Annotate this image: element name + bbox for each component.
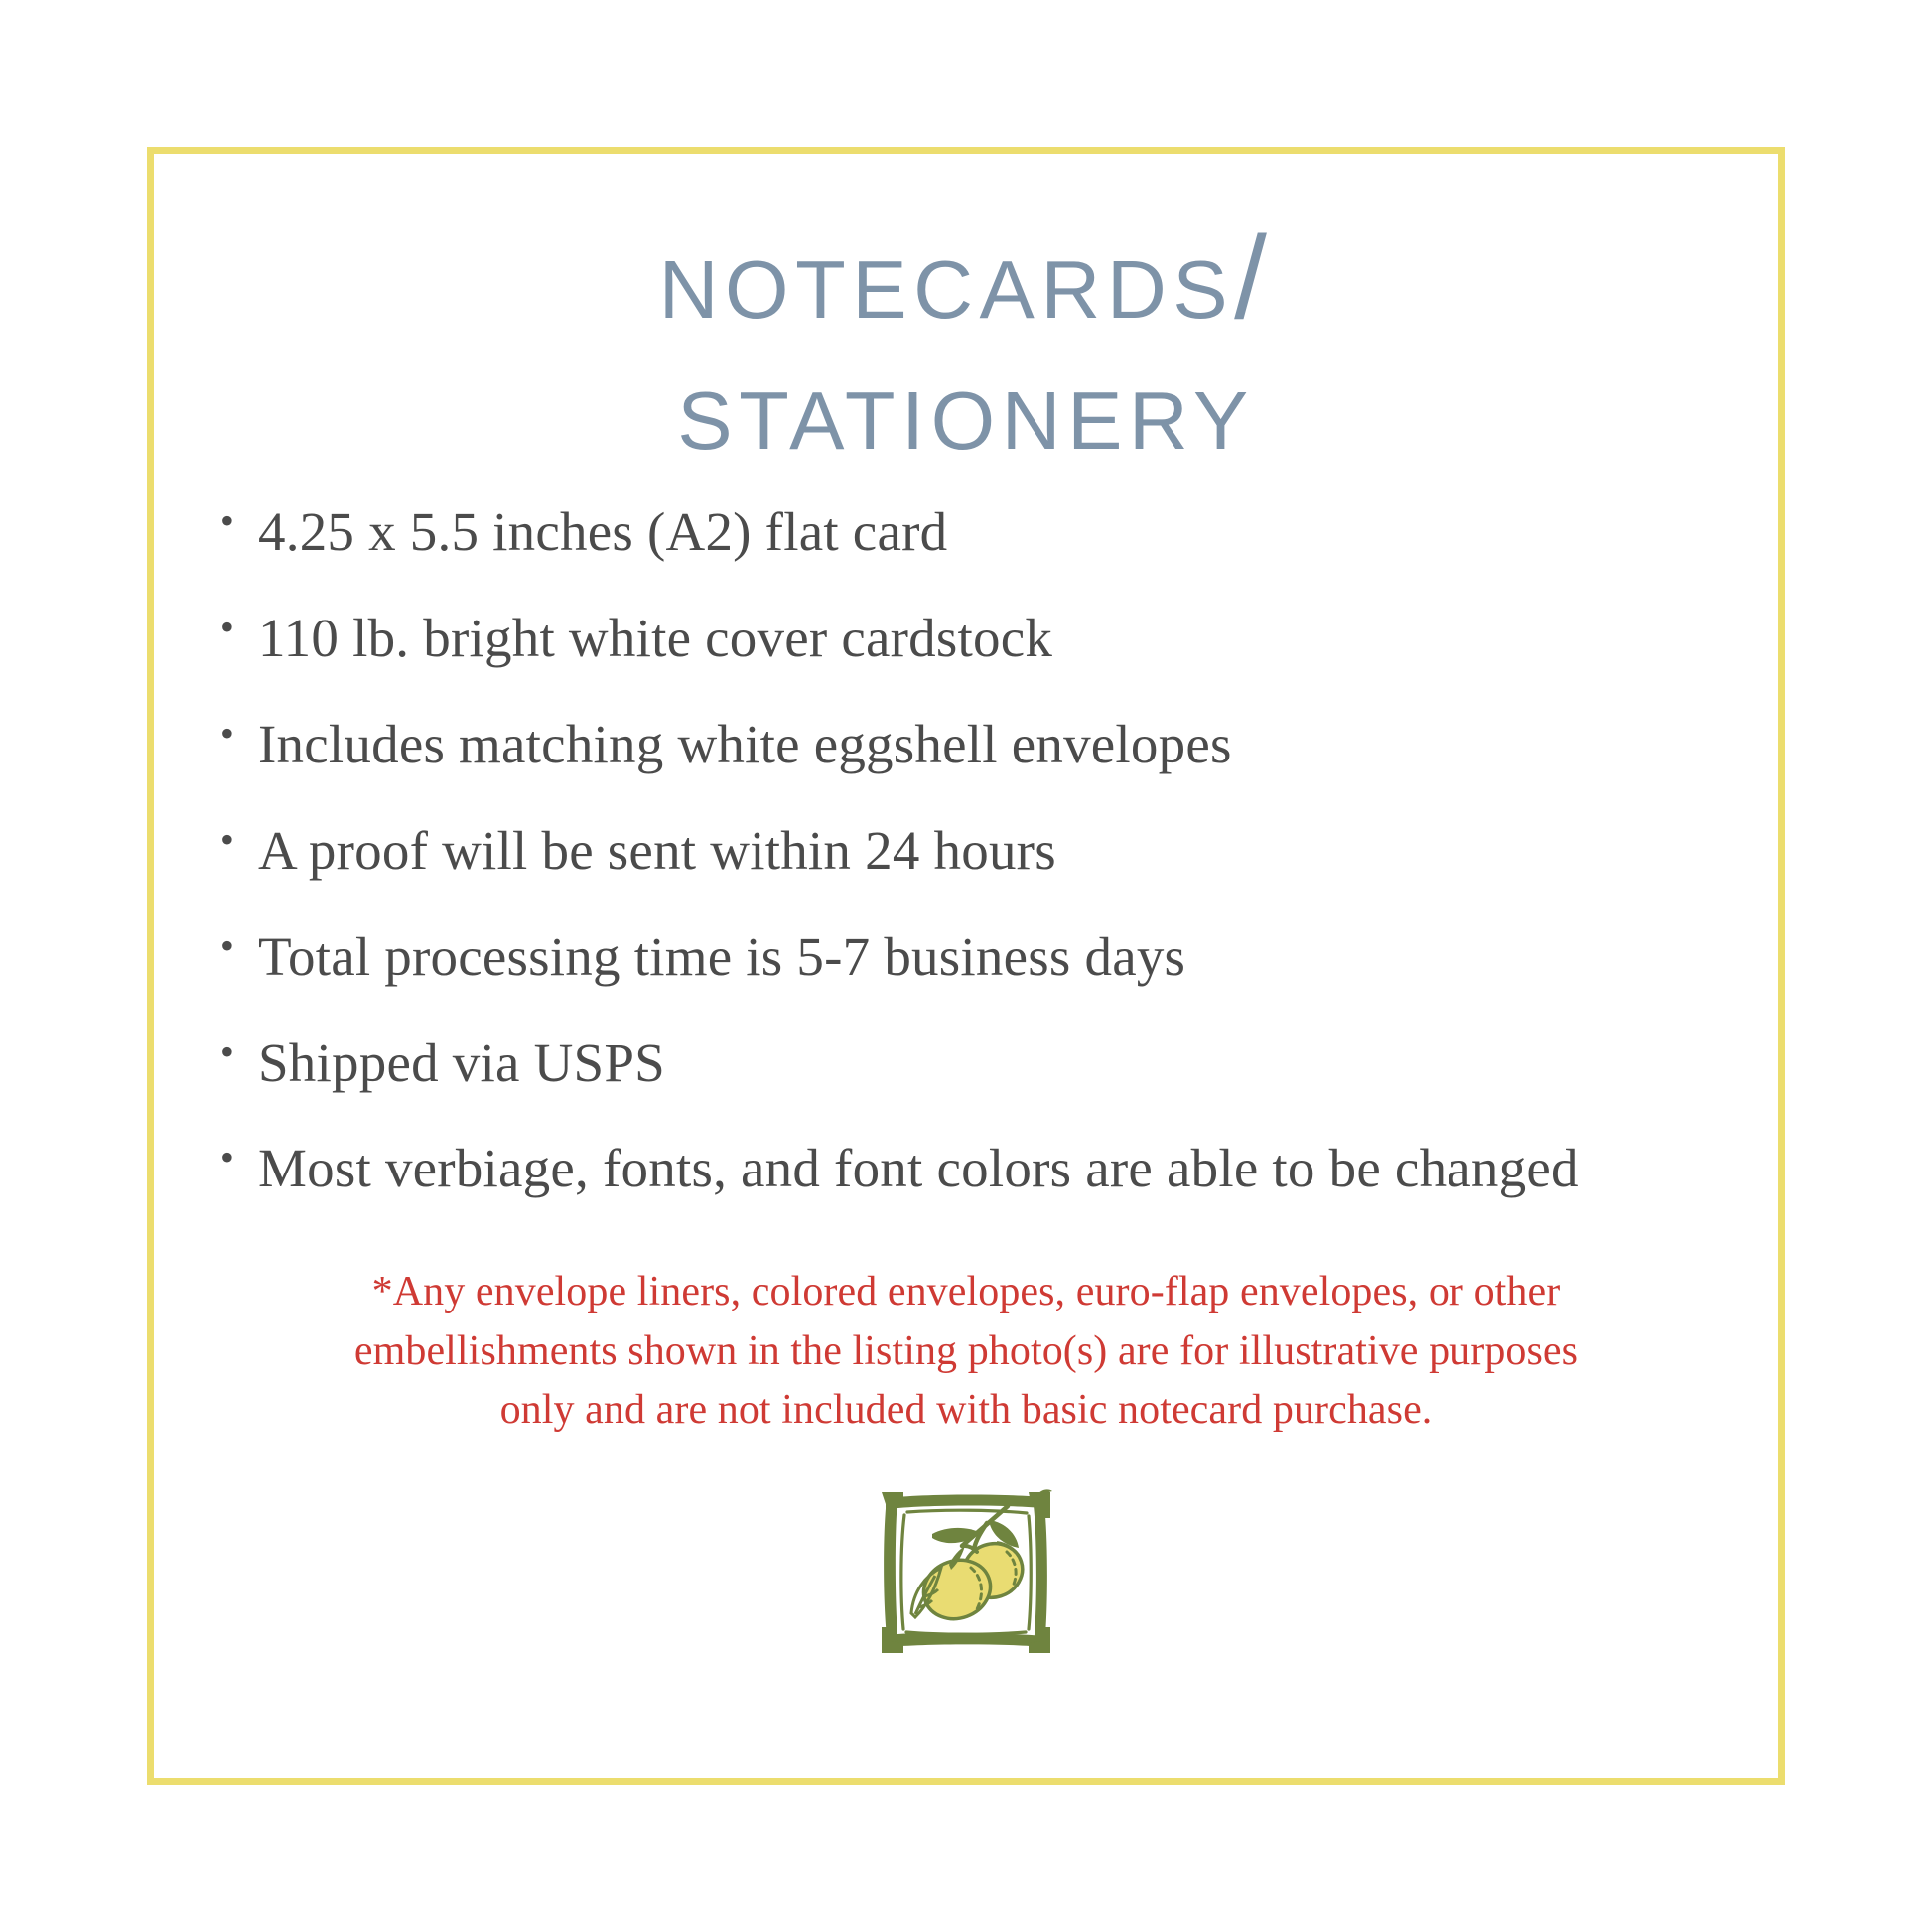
brand-logo [872,1482,1060,1661]
disclaimer-line-3: only and are not included with basic not… [195,1381,1737,1441]
disclaimer-text: *Any envelope liners, colored envelopes,… [195,1263,1737,1441]
page-title-line-1: Notecards/ [195,212,1737,344]
list-item: • 4.25 x 5.5 inches (A2) flat card [203,492,1745,573]
notecard-info-graphic: Notecards/ Stationery • 4.25 x 5.5 inche… [0,0,1932,1932]
page-title: Notecards/ Stationery [195,212,1737,475]
card-content: Notecards/ Stationery • 4.25 x 5.5 inche… [147,147,1785,1785]
bullet-dot-icon: • [203,1129,252,1187]
bullet-dot-icon: • [203,705,252,763]
bullet-dot-icon: • [203,811,252,870]
list-item: • A proof will be sent within 24 hours [203,811,1745,892]
list-item-label: Total processing time is 5-7 business da… [252,917,1745,998]
list-item: • Includes matching white eggshell envel… [203,705,1745,785]
page-title-line-2: Stationery [195,344,1737,475]
list-item-label: Most verbiage, fonts, and font colors ar… [252,1129,1745,1209]
list-item-label: 4.25 x 5.5 inches (A2) flat card [252,492,1745,573]
list-item-label: 110 lb. bright white cover cardstock [252,599,1745,679]
list-item: • 110 lb. bright white cover cardstock [203,599,1745,679]
list-item: • Most verbiage, fonts, and font colors … [203,1129,1745,1209]
lemon-branch-framed-logo-icon [878,1486,1054,1657]
list-item-label: Shipped via USPS [252,1024,1745,1104]
list-item: • Total processing time is 5-7 business … [203,917,1745,998]
bullet-dot-icon: • [203,917,252,976]
disclaimer-line-1: *Any envelope liners, colored envelopes,… [195,1263,1737,1322]
bullet-dot-icon: • [203,1024,252,1082]
bullet-dot-icon: • [203,492,252,551]
list-item-label: A proof will be sent within 24 hours [252,811,1745,892]
list-item-label: Includes matching white eggshell envelop… [252,705,1745,785]
bullet-dot-icon: • [203,599,252,657]
list-item: • Shipped via USPS [203,1024,1745,1104]
specs-list: • 4.25 x 5.5 inches (A2) flat card • 110… [187,492,1745,1235]
disclaimer-line-2: embellishments shown in the listing phot… [195,1322,1737,1382]
